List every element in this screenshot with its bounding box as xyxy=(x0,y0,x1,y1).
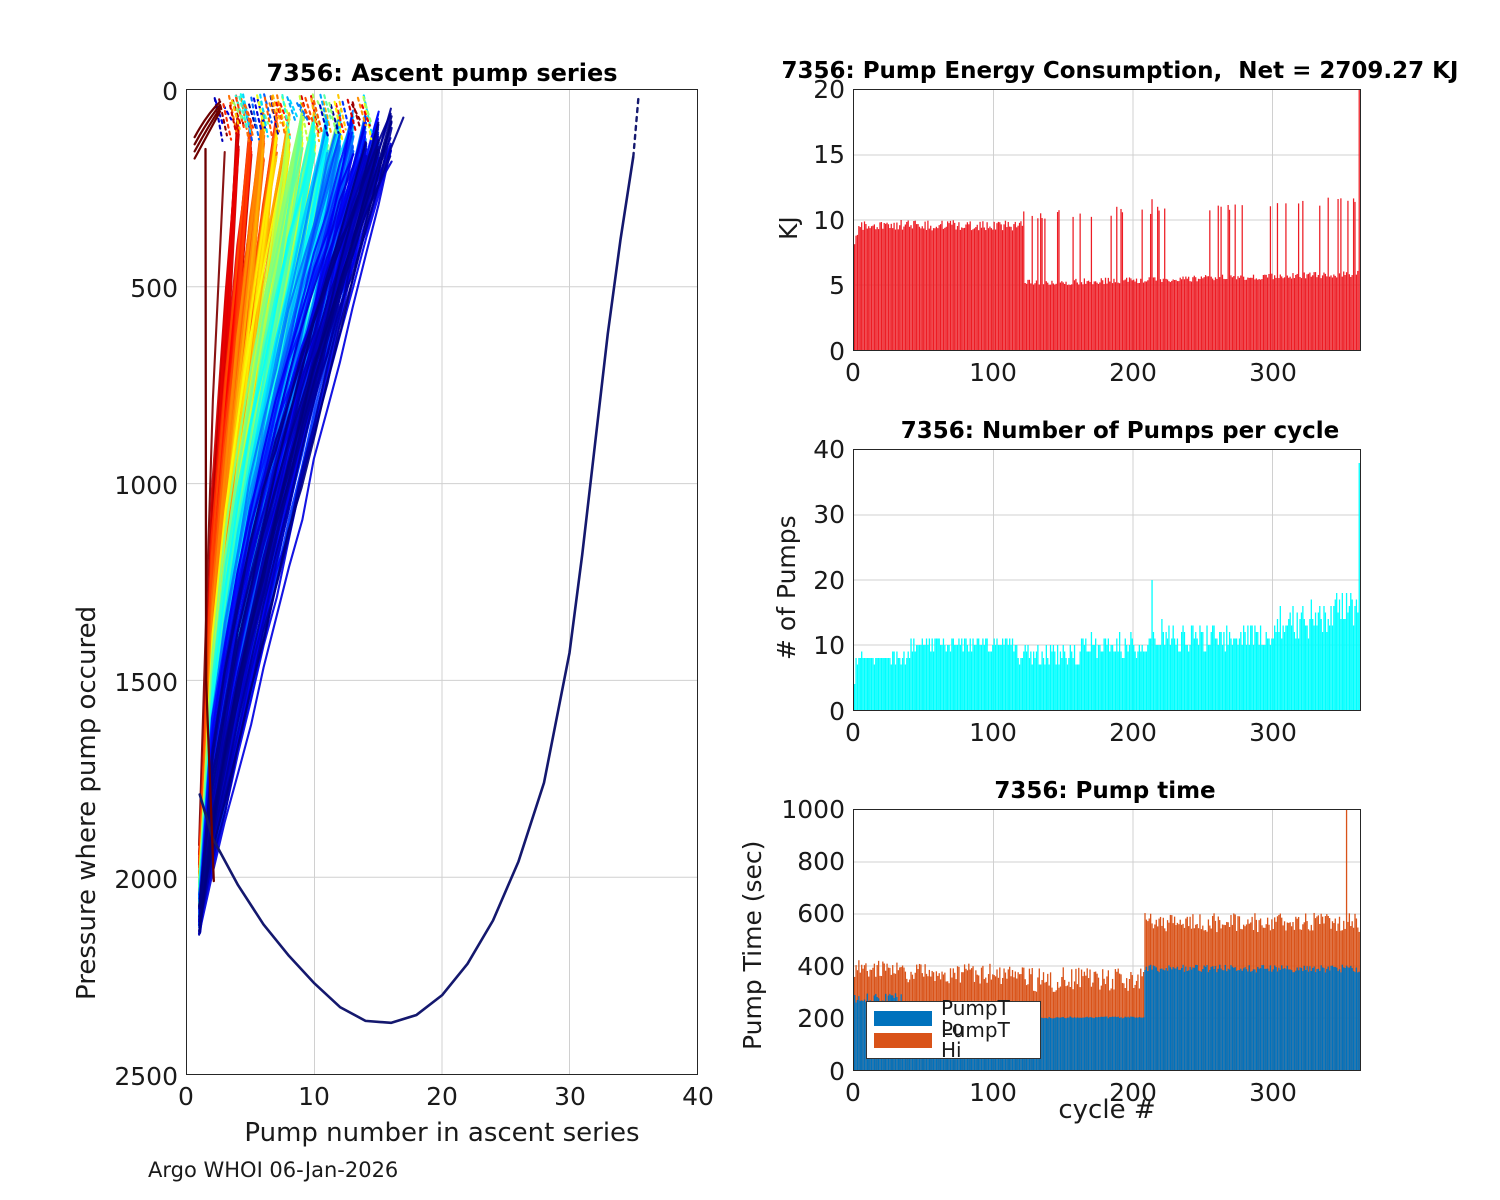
ascent-xtick-30: 30 xyxy=(540,1082,600,1111)
panel-pump-time: 7356: Pump time 1000 800 600 400 200 0 0… xyxy=(740,720,1500,1200)
energy-ytick-15: 15 xyxy=(793,140,845,169)
ascent-xtick-0: 0 xyxy=(156,1082,216,1111)
pumps-ylabel: # of Pumps xyxy=(772,515,801,660)
pumptime-ylabel: Pump Time (sec) xyxy=(738,841,767,1050)
pumps-title: 7356: Number of Pumps per cycle xyxy=(800,418,1440,444)
pumptime-ytick-200: 200 xyxy=(756,1004,845,1033)
legend-item-pumpt-hi[interactable]: PumpT Hi xyxy=(874,1029,1032,1051)
energy-ylabel: KJ xyxy=(774,216,803,240)
pumps-ytick-40: 40 xyxy=(790,435,845,464)
panel-pump-energy: 7356: Pump Energy Consumption, Net = 270… xyxy=(740,0,1500,400)
legend-swatch-pumpt-lo xyxy=(874,1011,932,1026)
ascent-plot-content xyxy=(187,90,697,1074)
legend-swatch-pumpt-hi xyxy=(874,1033,932,1048)
energy-ytick-5: 5 xyxy=(793,271,845,300)
ascent-ytick-500: 500 xyxy=(96,274,178,303)
panel-number-of-pumps: 7356: Number of Pumps per cycle 40 30 20… xyxy=(740,360,1500,760)
panel-ascent-pump-series: 7356: Ascent pump series 0 500 1000 1500… xyxy=(0,0,740,1200)
pumps-plot-content xyxy=(854,450,1360,710)
ascent-ytick-1500: 1500 xyxy=(96,668,178,697)
ascent-ytick-0: 0 xyxy=(96,77,178,106)
pumptime-ytick-800: 800 xyxy=(756,847,845,876)
pumptime-title: 7356: Pump time xyxy=(850,778,1360,804)
ascent-xtick-10: 10 xyxy=(284,1082,344,1111)
figure-canvas: 7356: Ascent pump series 0 500 1000 1500… xyxy=(0,0,1500,1200)
energy-plot-content xyxy=(854,90,1360,350)
ascent-xtick-40: 40 xyxy=(668,1082,728,1111)
energy-title: 7356: Pump Energy Consumption, Net = 270… xyxy=(750,58,1490,84)
ascent-xlabel: Pump number in ascent series xyxy=(186,1118,698,1148)
pumptime-xlabel: cycle # xyxy=(853,1095,1361,1125)
pumptime-ytick-600: 600 xyxy=(756,899,845,928)
ascent-title: 7356: Ascent pump series xyxy=(186,59,698,87)
legend-label-pumpt-hi: PumpT Hi xyxy=(941,1020,1032,1060)
ascent-ytick-1000: 1000 xyxy=(96,471,178,500)
ascent-xtick-20: 20 xyxy=(412,1082,472,1111)
pumptime-ytick-400: 400 xyxy=(756,952,845,981)
ascent-ytick-2000: 2000 xyxy=(96,865,178,894)
ascent-ylabel: Pressure where pump occured xyxy=(72,606,102,1000)
pumptime-legend[interactable]: PumpT Lo PumpT Hi xyxy=(866,1001,1041,1059)
pumptime-ytick-1000: 1000 xyxy=(756,795,845,824)
figure-footer: Argo WHOI 06-Jan-2026 xyxy=(148,1158,398,1182)
energy-ytick-20: 20 xyxy=(793,75,845,104)
